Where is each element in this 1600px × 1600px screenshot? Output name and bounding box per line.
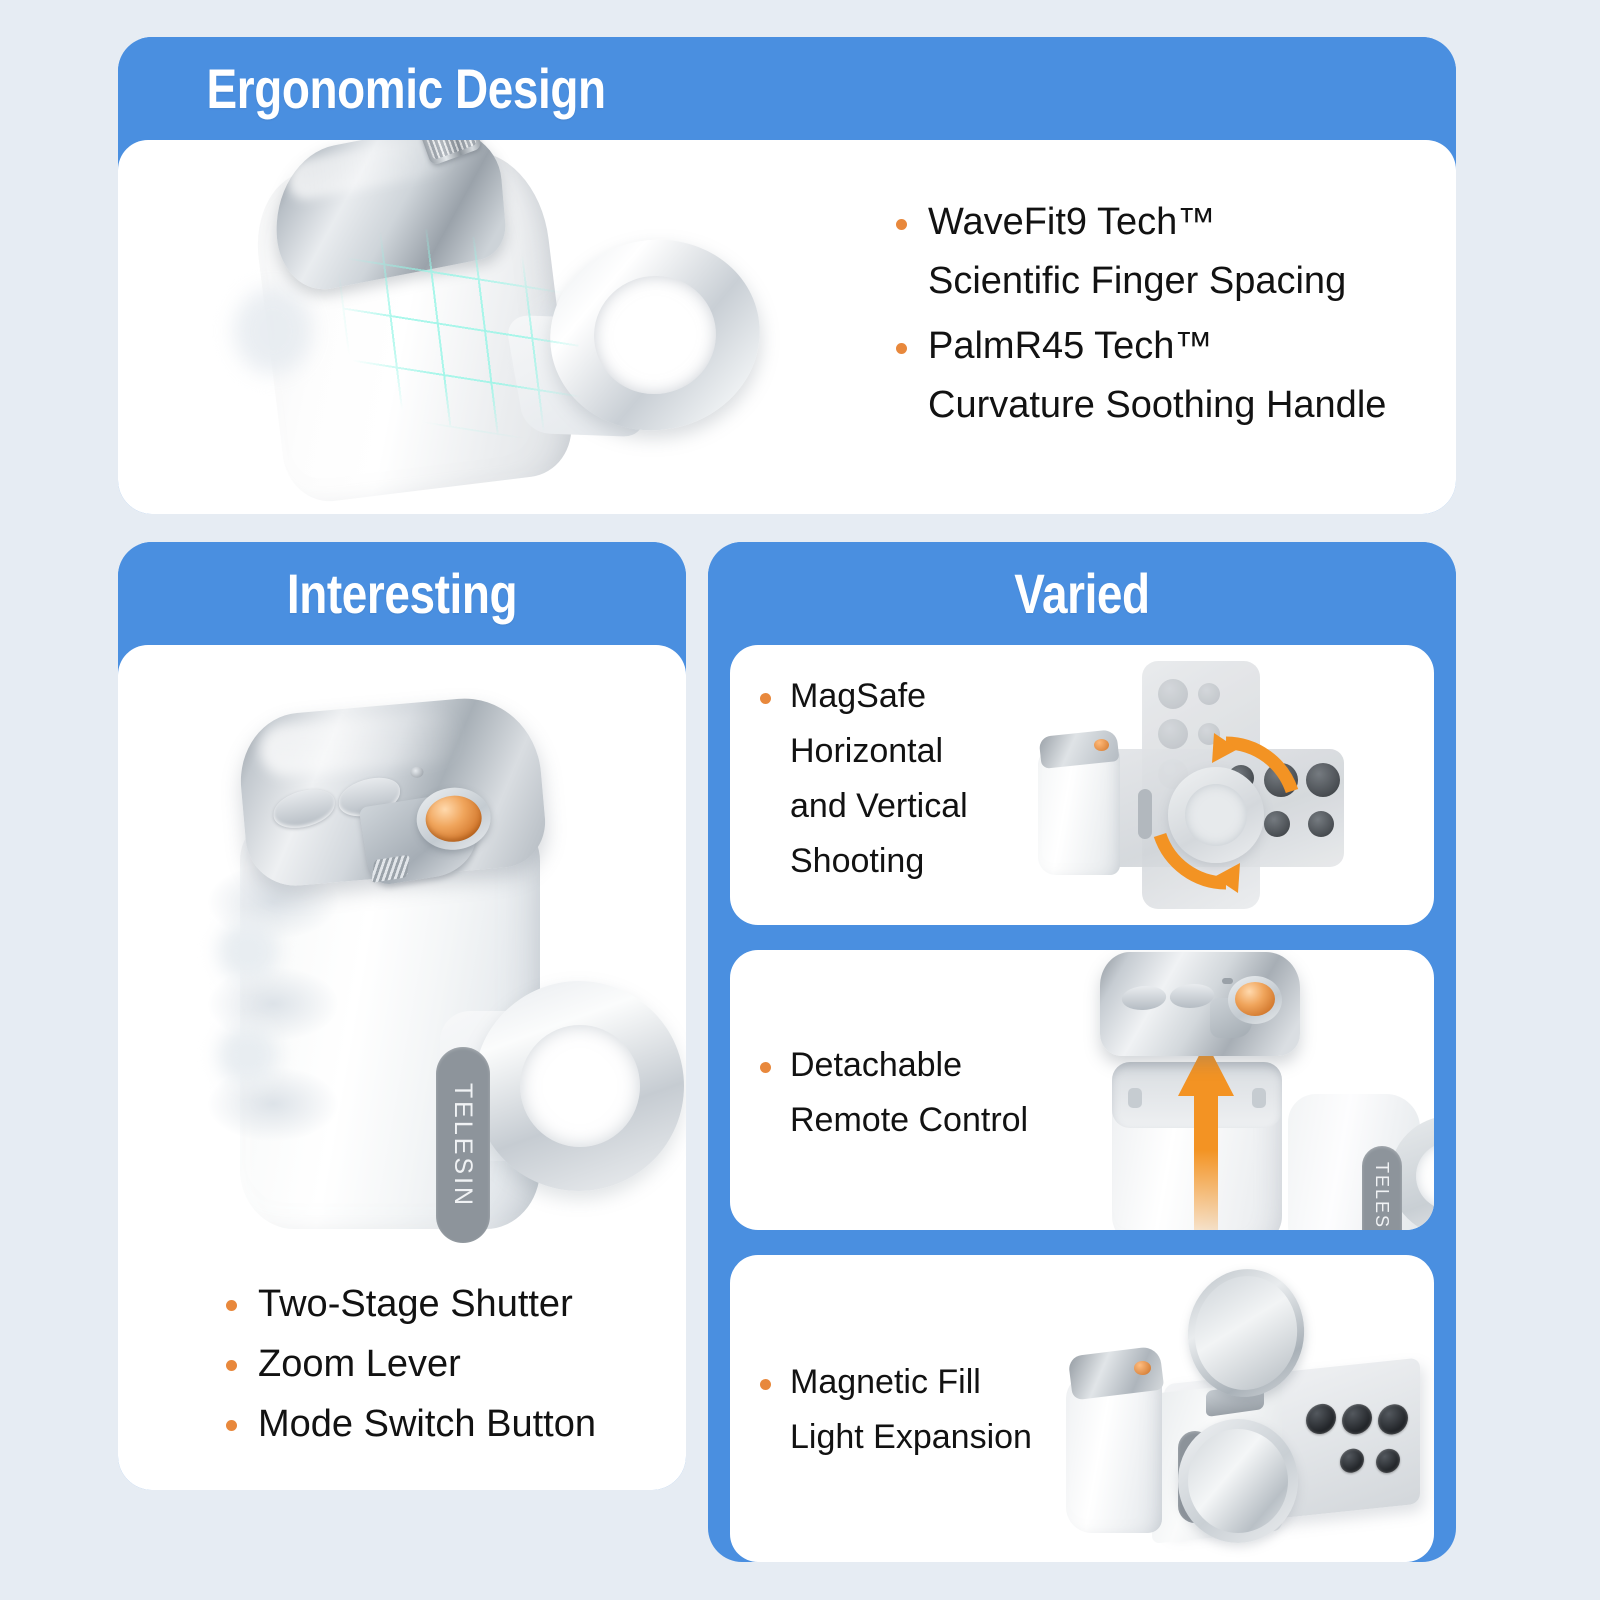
- feature-card-detachable-remote: Detachable Remote Control TELESIN: [730, 950, 1434, 1230]
- list-item: Mode Switch Button: [218, 1394, 678, 1454]
- fill-light-feature-list: Magnetic Fill Light Expansion: [752, 1355, 1062, 1465]
- page-title-interesting: Interesting: [169, 561, 635, 626]
- phone-lens-icon: [1306, 1402, 1336, 1435]
- bullet-continuation: Light Expansion: [790, 1410, 1062, 1465]
- bullet-lead: Mode Switch Button: [258, 1403, 596, 1445]
- infographic-canvas: Ergonomic Design WaveFit9 Tech™ Scientif…: [0, 0, 1600, 1600]
- detachable-remote-module: [1100, 952, 1300, 1056]
- magnetic-fill-light-illustration: TELESIN: [1060, 1261, 1434, 1557]
- bullet-lead: PalmR45 Tech™: [928, 325, 1212, 367]
- phone-lens-icon: [1198, 683, 1220, 705]
- interesting-feature-list: Two-Stage Shutter Zoom Lever Mode Switch…: [218, 1274, 678, 1454]
- bullet-lead: MagSafe: [790, 677, 926, 715]
- mode-switch-button-icon: [1120, 986, 1168, 1010]
- finger-groove-2: [208, 967, 338, 1041]
- finger-groove-3: [208, 1067, 338, 1141]
- panel-body-varied: MagSafe Horizontal and Vertical Shooting: [708, 645, 1456, 1562]
- bullet-continuation: Remote Control: [790, 1093, 1052, 1148]
- brand-label-text: TELESIN: [1372, 1161, 1393, 1230]
- shutter-button-icon: [1134, 1361, 1151, 1375]
- rotation-arrows-icon: [1142, 729, 1310, 897]
- socket-pin: [1128, 1088, 1142, 1108]
- phone-lens-icon: [1340, 1447, 1364, 1474]
- bullet-continuation: and Vertical: [790, 779, 1022, 834]
- panel-ergonomic-design: Ergonomic Design WaveFit9 Tech™ Scientif…: [118, 37, 1456, 514]
- brand-label-text: TELESIN: [449, 1082, 478, 1207]
- secondary-button-icon: [1168, 984, 1216, 1008]
- bullet-continuation: Horizontal: [790, 724, 1022, 779]
- ergonomic-grip-illustration: [228, 140, 818, 514]
- panel-interesting: Interesting TELESIN: [118, 542, 686, 1490]
- panel-header-interesting: Interesting: [118, 542, 686, 645]
- page-title-ergonomic-design: Ergonomic Design: [118, 56, 606, 121]
- brand-label: TELESIN: [436, 1047, 490, 1243]
- detachable-remote-illustration: TELESIN: [1060, 950, 1434, 1230]
- mode-switch-button-icon: [273, 785, 335, 833]
- magsafe-feature-list: MagSafe Horizontal and Vertical Shooting: [752, 669, 1022, 889]
- magsafe-rotation-illustration: [1030, 649, 1430, 921]
- list-item: Two-Stage Shutter: [218, 1274, 678, 1334]
- status-led-icon: [410, 766, 424, 778]
- bullet-lead: Magnetic Fill: [790, 1363, 981, 1401]
- list-item: Detachable Remote Control: [752, 1038, 1052, 1148]
- grip-silver-top-cap: [235, 692, 549, 889]
- bullet-lead: Two-Stage Shutter: [258, 1283, 573, 1325]
- detach-up-arrow-icon: [1178, 1042, 1234, 1230]
- bullet-lead: WaveFit9 Tech™: [928, 201, 1215, 243]
- shutter-button-icon: [1094, 739, 1109, 751]
- grip-waist-1: [218, 921, 278, 981]
- page-title-varied: Varied: [775, 561, 1388, 626]
- ergonomic-feature-list: WaveFit9 Tech™ Scientific Finger Spacing…: [888, 193, 1408, 441]
- phone-lens-icon: [1308, 811, 1334, 837]
- panel-body-interesting: TELESIN Two-Stage Shutter Zoom Lever: [118, 645, 686, 1490]
- bullet-continuation: Curvature Soothing Handle: [928, 376, 1408, 435]
- bullet-lead: Zoom Lever: [258, 1343, 461, 1385]
- grip-waist-left: [234, 288, 312, 374]
- bullet-lead: Detachable: [790, 1046, 962, 1084]
- panel-body-ergonomic: WaveFit9 Tech™ Scientific Finger Spacing…: [118, 140, 1456, 514]
- list-item: PalmR45 Tech™ Curvature Soothing Handle: [888, 317, 1408, 435]
- grip-waist-2: [218, 1025, 278, 1085]
- list-item: Magnetic Fill Light Expansion: [752, 1355, 1062, 1465]
- socket-pin: [1252, 1088, 1266, 1108]
- grip-top-controls-illustration: TELESIN: [174, 659, 686, 1259]
- two-stage-shutter-button-icon: [1228, 976, 1282, 1024]
- feature-card-fill-light: Magnetic Fill Light Expansion: [730, 1255, 1434, 1562]
- list-item: MagSafe Horizontal and Vertical Shooting: [752, 669, 1022, 889]
- panel-header-varied: Varied: [708, 542, 1456, 645]
- bullet-continuation: Shooting: [790, 834, 1022, 889]
- detachable-feature-list: Detachable Remote Control: [752, 1038, 1052, 1148]
- brand-label: TELESIN: [1362, 1146, 1402, 1230]
- bullet-continuation: Scientific Finger Spacing: [928, 252, 1408, 311]
- phone-lens-icon: [1378, 1403, 1408, 1436]
- panel-varied: Varied MagSafe Horizontal and Vertical S…: [708, 542, 1456, 1562]
- phone-lens-icon: [1342, 1403, 1372, 1436]
- feature-card-magsafe: MagSafe Horizontal and Vertical Shooting: [730, 645, 1434, 925]
- phone-lens-icon: [1158, 679, 1188, 709]
- grip-magnetic-ring: [474, 981, 684, 1191]
- finger-spacing-grid-overlay: [331, 214, 592, 450]
- status-led-icon: [1222, 978, 1233, 984]
- list-item: WaveFit9 Tech™ Scientific Finger Spacing: [888, 193, 1408, 311]
- phone-lens-icon: [1376, 1448, 1400, 1475]
- magnetic-fill-light-body: [1178, 1419, 1298, 1543]
- list-item: Zoom Lever: [218, 1334, 678, 1394]
- phone-lens-icon: [1306, 763, 1340, 797]
- panel-header-ergonomic: Ergonomic Design: [118, 37, 1456, 140]
